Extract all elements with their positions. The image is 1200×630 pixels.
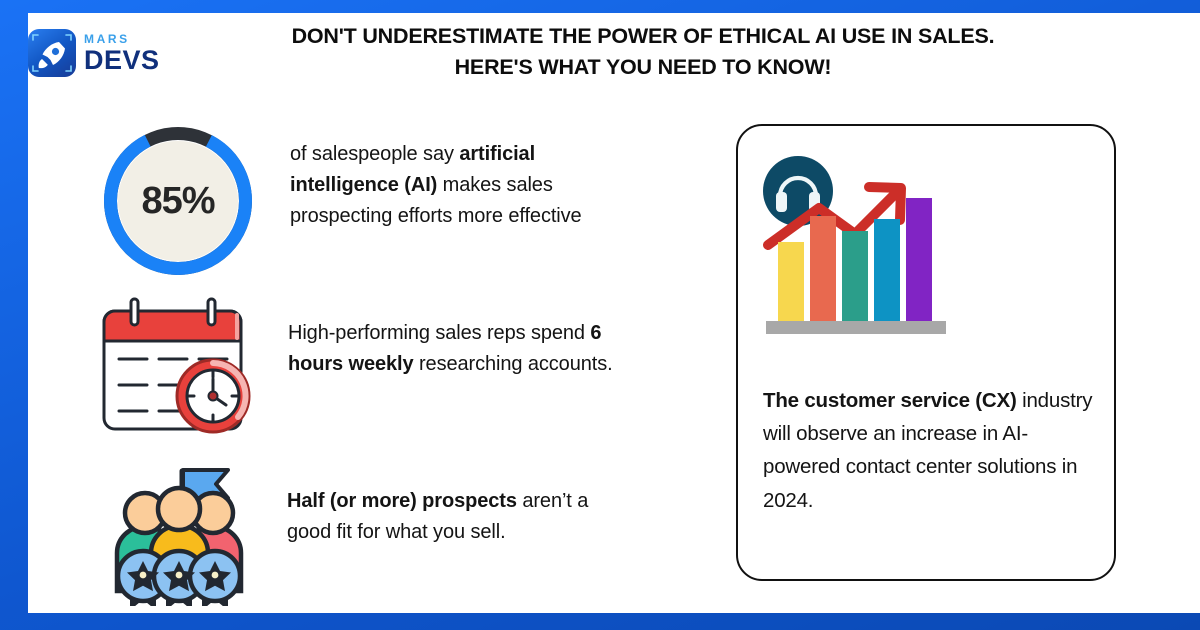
cx-card: The customer service (CX) industry will … [736, 124, 1116, 581]
stat-text-1: of salespeople say artificial intelligen… [290, 125, 620, 232]
stat-item-donut: 85% of salespeople say artificial intell… [102, 125, 662, 277]
poster-canvas: MARS DEVS DON'T UNDERESTIMATE THE POWER … [28, 13, 1200, 613]
stat-2-part-c: researching accounts. [414, 353, 613, 375]
logo-devs-text: DEVS [84, 47, 160, 74]
rocket-icon [28, 29, 76, 77]
calendar-clock-icon [91, 293, 266, 443]
stat-3-part-a: Half (or more) prospects [287, 490, 517, 512]
title-line-2: HERE'S WHAT YOU NEED TO KNOW! [208, 52, 1078, 83]
stat-item-calendar: High-performing sales reps spend 6 hours… [91, 293, 671, 443]
stat-1-part-a: of salespeople say [290, 143, 459, 165]
donut-chart: 85% [102, 125, 254, 277]
stat-item-people: Half (or more) prospects aren’t a good f… [95, 461, 675, 611]
stat-text-3: Half (or more) prospects aren’t a good f… [287, 461, 617, 548]
bar-chart-growth-illustration [756, 148, 986, 348]
title-line-1: DON'T UNDERESTIMATE THE POWER OF ETHICAL… [208, 21, 1078, 52]
page-title: DON'T UNDERESTIMATE THE POWER OF ETHICAL… [208, 21, 1078, 83]
cx-text-part-a: The customer service (CX) [763, 389, 1017, 412]
logo-mars-text: MARS [84, 33, 160, 45]
poster-frame: MARS DEVS DON'T UNDERESTIMATE THE POWER … [0, 0, 1200, 630]
stats-column: 85% of salespeople say artificial intell… [73, 113, 673, 613]
logo-wordmark: MARS DEVS [84, 33, 160, 74]
brand-logo: MARS DEVS [28, 25, 188, 81]
stat-text-2: High-performing sales reps spend 6 hours… [288, 293, 628, 380]
header: MARS DEVS DON'T UNDERESTIMATE THE POWER … [28, 13, 1200, 105]
stat-2-part-a: High-performing sales reps spend [288, 322, 590, 344]
people-medals-icon [95, 461, 265, 611]
donut-value-label: 85% [102, 125, 254, 277]
cx-card-text: The customer service (CX) industry will … [763, 384, 1099, 517]
